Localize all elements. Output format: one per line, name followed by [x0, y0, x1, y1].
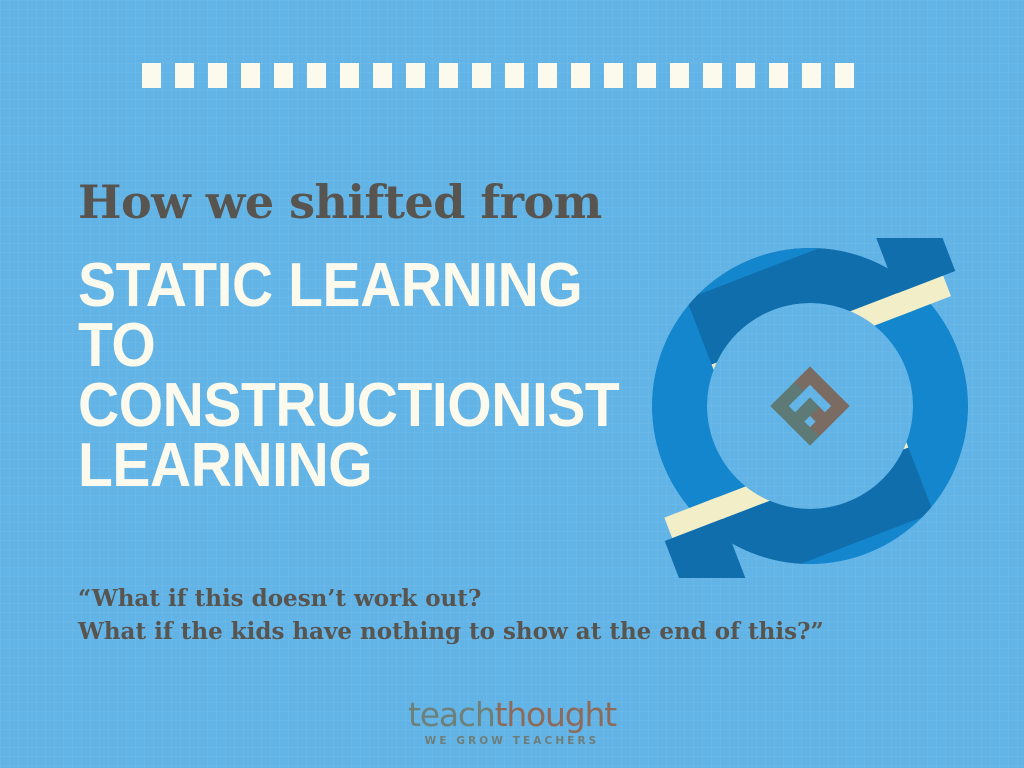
dash-segment: [175, 63, 194, 88]
dash-segment: [670, 63, 689, 88]
dash-segment: [604, 63, 623, 88]
dash-segment: [736, 63, 755, 88]
dash-segment: [571, 63, 590, 88]
dash-segment: [505, 63, 524, 88]
pull-quote-line-2: What if the kids have nothing to show at…: [78, 616, 878, 649]
dash-segment: [472, 63, 491, 88]
dash-segment: [439, 63, 458, 88]
brand-logo: teachthought WE GROW TEACHERS: [0, 698, 1024, 747]
dash-segment: [406, 63, 425, 88]
dash-segment: [373, 63, 392, 88]
headline-line-3: CONSTRUCTIONIST: [78, 376, 648, 436]
dash-segment: [703, 63, 722, 88]
dash-segment: [637, 63, 656, 88]
pull-quote: “What if this doesn’t work out? What if …: [78, 583, 878, 648]
dashed-rule: [142, 63, 872, 88]
headline-line-4: LEARNING: [78, 436, 648, 496]
brand-wordmark: teachthought: [408, 698, 616, 731]
dash-segment: [340, 63, 359, 88]
dash-segment: [802, 63, 821, 88]
dash-segment: [538, 63, 557, 88]
brand-tagline: WE GROW TEACHERS: [0, 736, 1024, 747]
ring-graphic: [640, 238, 980, 578]
dash-segment: [835, 63, 854, 88]
headline-line-2: TO: [78, 316, 648, 376]
dash-segment: [274, 63, 293, 88]
headline-line-1: STATIC LEARNING: [78, 256, 648, 316]
brand-word-teach: teach: [408, 695, 495, 734]
dash-segment: [208, 63, 227, 88]
dash-segment: [142, 63, 161, 88]
pull-quote-line-1: “What if this doesn’t work out?: [78, 583, 878, 616]
headline: STATIC LEARNING TO CONSTRUCTIONIST LEARN…: [78, 256, 648, 497]
slide-canvas: How we shifted from STATIC LEARNING TO C…: [0, 0, 1024, 768]
brand-word-thought: thought: [495, 695, 616, 734]
kicker-text: How we shifted from: [78, 179, 602, 225]
dash-segment: [307, 63, 326, 88]
dash-segment: [769, 63, 788, 88]
dash-segment: [241, 63, 260, 88]
